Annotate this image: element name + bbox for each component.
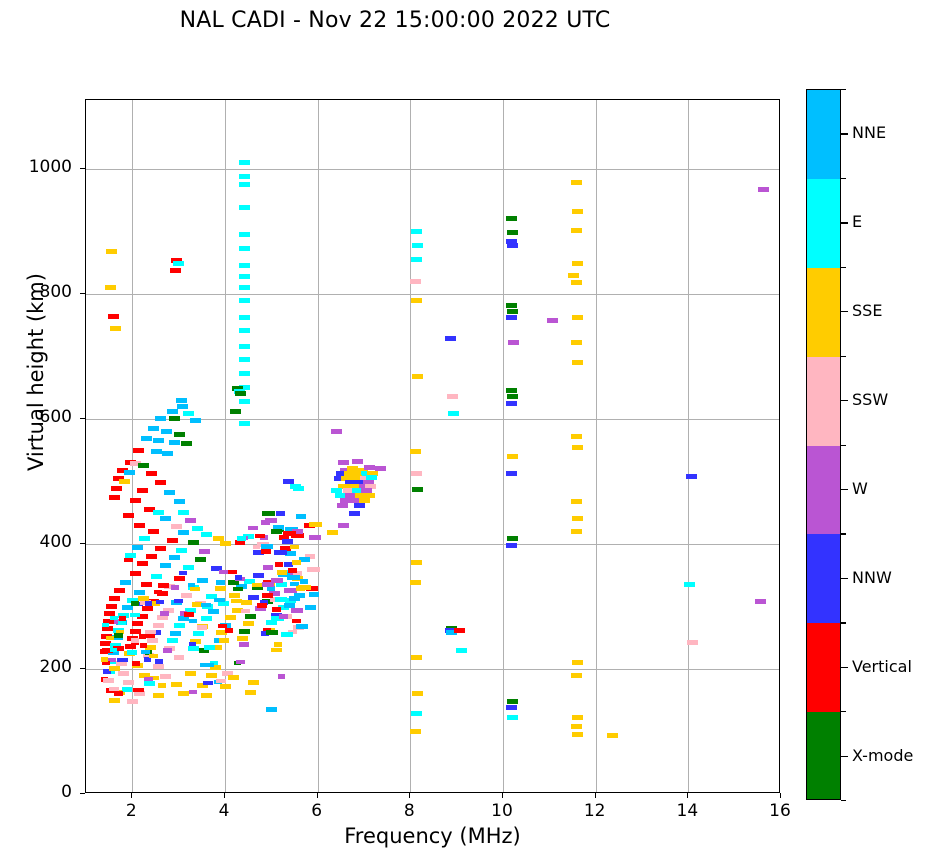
data-point <box>239 399 250 404</box>
data-point <box>153 623 164 628</box>
data-point <box>277 570 287 575</box>
data-point <box>123 513 134 518</box>
data-point <box>571 499 582 504</box>
data-point <box>204 645 215 650</box>
data-point <box>572 315 583 320</box>
colorbar-segment-ssw <box>807 357 840 446</box>
x-tick <box>131 793 132 798</box>
data-point <box>684 582 695 587</box>
data-point <box>307 567 320 572</box>
data-point <box>169 555 180 560</box>
data-point <box>266 630 278 635</box>
colorbar-divider-tick <box>841 800 846 801</box>
data-point <box>174 599 183 604</box>
data-point <box>507 699 518 704</box>
data-point <box>174 623 185 628</box>
data-point <box>239 629 250 634</box>
data-point <box>241 609 250 614</box>
data-point <box>123 680 134 685</box>
data-point <box>327 530 338 535</box>
data-point <box>239 174 250 179</box>
data-point <box>155 546 166 551</box>
data-point <box>262 582 274 587</box>
data-point <box>162 451 173 456</box>
data-point <box>185 671 196 676</box>
data-point <box>309 592 319 597</box>
data-point <box>149 654 158 659</box>
data-point <box>278 674 285 679</box>
data-point <box>137 488 148 493</box>
data-point <box>190 418 201 423</box>
y-tick <box>80 293 85 294</box>
data-point <box>173 261 184 266</box>
data-point <box>178 530 189 535</box>
data-point <box>131 601 139 606</box>
data-point <box>572 360 583 365</box>
data-point <box>412 691 423 696</box>
data-point <box>225 628 233 633</box>
colorbar-divider-tick <box>841 533 846 534</box>
data-point <box>228 570 237 575</box>
colorbar-tick <box>841 489 848 490</box>
data-point <box>151 574 162 579</box>
data-point <box>411 257 422 262</box>
data-point <box>228 675 239 680</box>
data-point <box>195 557 206 562</box>
data-point <box>141 582 152 587</box>
data-point <box>114 633 123 638</box>
data-point <box>239 357 250 362</box>
colorbar-segment-e <box>807 179 840 268</box>
data-point <box>189 619 197 624</box>
y-tick-label: 200 <box>0 657 72 677</box>
data-point <box>229 593 240 598</box>
data-point <box>411 229 422 234</box>
data-point <box>109 666 120 671</box>
data-point <box>160 611 169 616</box>
data-point <box>507 309 518 314</box>
data-point <box>106 604 117 609</box>
colorbar-label-x-mode: X-mode <box>852 746 913 765</box>
x-tick-label: 12 <box>565 801 625 821</box>
data-point <box>507 715 518 720</box>
data-point <box>239 274 250 279</box>
data-point <box>109 698 120 703</box>
x-tick-label: 8 <box>379 801 439 821</box>
data-point <box>571 724 582 729</box>
data-point <box>132 661 140 666</box>
data-point <box>181 593 192 598</box>
data-points-layer <box>86 100 779 792</box>
data-point <box>233 587 243 592</box>
x-tick-label: 2 <box>101 801 161 821</box>
colorbar-segment-nnw <box>807 534 840 623</box>
data-point <box>114 691 123 696</box>
data-point <box>571 180 582 185</box>
data-point <box>506 543 517 548</box>
x-tick <box>595 793 596 798</box>
data-point <box>235 575 242 580</box>
data-point <box>141 436 152 441</box>
data-point <box>271 648 282 653</box>
colorbar-segment-nne <box>807 90 840 179</box>
y-tick <box>80 543 85 544</box>
data-point <box>132 545 143 550</box>
data-point <box>148 426 159 431</box>
data-point <box>144 681 155 686</box>
data-point <box>255 534 265 539</box>
colorbar-divider-tick <box>841 711 846 712</box>
data-point <box>506 705 517 710</box>
data-point <box>607 733 618 738</box>
colorbar-tick <box>841 133 848 134</box>
x-tick <box>317 793 318 798</box>
data-point <box>262 511 275 516</box>
data-point <box>239 344 250 349</box>
data-point <box>130 571 141 576</box>
data-point <box>354 503 365 508</box>
data-point <box>293 486 304 491</box>
data-point <box>109 495 120 500</box>
y-tick <box>80 418 85 419</box>
data-point <box>122 605 133 610</box>
data-point <box>140 643 147 648</box>
x-tick <box>687 793 688 798</box>
data-point <box>102 626 113 631</box>
data-point <box>155 416 166 421</box>
data-point <box>236 660 245 665</box>
colorbar-label-sse: SSE <box>852 301 882 320</box>
data-point <box>506 216 517 221</box>
colorbar-tick <box>841 578 848 579</box>
data-point <box>266 707 277 712</box>
data-point <box>252 583 262 588</box>
colorbar-divider-tick <box>841 89 846 90</box>
data-point <box>292 560 301 565</box>
data-point <box>248 526 258 531</box>
data-point <box>275 597 287 602</box>
data-point <box>206 663 214 668</box>
data-point <box>154 590 162 595</box>
data-point <box>109 596 120 601</box>
data-point <box>119 479 130 484</box>
data-point <box>410 449 421 454</box>
data-point <box>170 268 181 273</box>
data-point <box>686 474 697 479</box>
colorbar-label-nnw: NNW <box>852 568 892 587</box>
data-point <box>201 532 212 537</box>
data-point <box>206 673 217 678</box>
data-point <box>114 588 125 593</box>
data-point <box>139 536 150 541</box>
data-point <box>507 243 518 248</box>
data-point <box>572 516 583 521</box>
x-tick <box>780 793 781 798</box>
data-point <box>239 315 250 320</box>
data-point <box>265 518 277 523</box>
colorbar-divider-tick <box>841 622 846 623</box>
colorbar-label-nne: NNE <box>852 123 886 142</box>
data-point <box>130 498 141 503</box>
data-point <box>572 715 583 720</box>
data-point <box>239 160 250 165</box>
data-point <box>193 631 204 636</box>
data-point <box>572 732 583 737</box>
data-point <box>167 638 178 643</box>
data-point <box>146 554 157 559</box>
data-point <box>188 540 199 545</box>
data-point <box>411 560 422 565</box>
y-tick <box>80 793 85 794</box>
data-point <box>137 561 148 566</box>
data-point <box>568 273 579 278</box>
data-point <box>153 664 164 669</box>
data-point <box>253 573 264 578</box>
data-point <box>122 687 132 692</box>
data-point <box>197 625 207 630</box>
data-point <box>155 659 163 664</box>
data-point <box>127 650 137 655</box>
data-point <box>283 531 296 536</box>
data-point <box>177 404 188 409</box>
data-point <box>220 684 231 689</box>
data-point <box>274 642 282 647</box>
data-point <box>337 503 348 508</box>
data-point <box>272 607 281 612</box>
data-point <box>219 570 228 575</box>
data-point <box>108 314 119 319</box>
data-point <box>239 642 249 647</box>
data-point <box>144 677 153 682</box>
data-point <box>171 585 179 590</box>
colorbar-divider-tick <box>841 445 846 446</box>
data-point <box>183 411 194 416</box>
data-point <box>118 621 126 626</box>
data-point <box>410 729 421 734</box>
data-point <box>305 605 316 610</box>
data-point <box>118 671 129 676</box>
x-tick <box>502 793 503 798</box>
data-point <box>239 182 250 187</box>
colorbar-label-ssw: SSW <box>852 390 888 409</box>
y-tick-label: 1000 <box>0 157 72 177</box>
data-point <box>103 678 114 683</box>
data-point <box>239 421 250 426</box>
data-point <box>105 285 116 290</box>
data-point <box>237 536 246 541</box>
colorbar-label-e: E <box>852 212 862 231</box>
data-point <box>445 336 456 341</box>
data-point <box>119 616 126 621</box>
data-point <box>239 371 250 376</box>
data-point <box>153 510 164 515</box>
x-tick-label: 14 <box>657 801 717 821</box>
data-point <box>176 398 187 403</box>
data-point <box>571 228 582 233</box>
data-point <box>296 586 305 591</box>
data-point <box>412 374 423 379</box>
data-point <box>271 578 283 583</box>
data-point <box>245 614 256 619</box>
data-point <box>506 388 517 393</box>
data-point <box>506 315 517 320</box>
data-point <box>239 328 250 333</box>
data-point <box>160 516 171 521</box>
data-point <box>181 441 192 446</box>
data-point <box>275 562 283 567</box>
data-point <box>131 638 139 643</box>
data-point <box>160 563 171 568</box>
data-point <box>145 630 156 635</box>
data-point <box>231 599 242 604</box>
y-tick-label: 400 <box>0 532 72 552</box>
data-point <box>201 693 212 698</box>
data-point <box>412 487 423 492</box>
data-point <box>153 693 164 698</box>
colorbar-divider-tick <box>841 267 846 268</box>
data-point <box>410 580 421 585</box>
data-point <box>208 609 219 614</box>
data-point <box>171 524 182 529</box>
colorbar-segment-w <box>807 446 840 535</box>
data-point <box>124 470 135 475</box>
colorbar-tick <box>841 667 848 668</box>
data-point <box>507 230 518 235</box>
colorbar-tick <box>841 311 848 312</box>
data-point <box>188 646 199 651</box>
data-point <box>199 549 210 554</box>
data-point <box>174 432 185 437</box>
data-point <box>216 580 225 585</box>
data-point <box>134 590 145 595</box>
data-point <box>174 499 185 504</box>
data-point <box>448 411 459 416</box>
data-point <box>237 636 248 641</box>
y-axis-label: Virtual height (km) <box>24 212 48 532</box>
data-point <box>161 429 172 434</box>
data-point <box>133 448 144 453</box>
data-point <box>261 549 271 554</box>
data-point <box>158 683 166 688</box>
colorbar-tick <box>841 400 848 401</box>
data-point <box>349 511 360 516</box>
data-point <box>220 541 231 546</box>
data-point <box>571 434 582 439</box>
data-point <box>225 615 236 620</box>
data-point <box>147 638 158 643</box>
colorbar-divider-tick <box>841 356 846 357</box>
data-point <box>117 658 128 663</box>
data-point <box>146 471 157 476</box>
data-point <box>127 699 138 704</box>
data-point <box>276 511 285 516</box>
data-point <box>284 603 295 608</box>
data-point <box>178 510 189 515</box>
data-point <box>507 394 518 399</box>
data-point <box>281 632 293 637</box>
data-point <box>331 429 342 434</box>
data-point <box>192 526 203 531</box>
data-point <box>282 539 293 544</box>
data-point <box>216 679 226 684</box>
data-point <box>235 540 245 545</box>
data-point <box>171 682 182 687</box>
data-point <box>263 565 273 570</box>
data-point <box>279 614 288 619</box>
colorbar-divider-tick <box>841 178 846 179</box>
data-point <box>454 628 465 633</box>
data-point <box>411 655 422 660</box>
data-point <box>241 600 252 605</box>
data-point <box>179 571 187 576</box>
x-axis-label: Frequency (MHz) <box>85 824 780 848</box>
data-point <box>184 612 194 617</box>
data-point <box>274 550 287 555</box>
data-point <box>239 205 250 210</box>
data-point <box>120 580 131 585</box>
data-point <box>411 471 422 476</box>
data-point <box>296 514 306 519</box>
data-point <box>571 673 582 678</box>
data-point <box>261 544 273 549</box>
data-point <box>506 471 517 476</box>
data-point <box>134 691 145 696</box>
data-point <box>257 603 267 608</box>
data-point <box>203 681 213 686</box>
data-point <box>571 340 582 345</box>
colorbar-label-vertical: Vertical <box>852 657 912 676</box>
data-point <box>447 394 458 399</box>
data-point <box>110 326 121 331</box>
data-point <box>183 565 194 570</box>
data-point <box>133 688 144 693</box>
x-tick-label: 16 <box>750 801 810 821</box>
data-point <box>507 454 518 459</box>
data-point <box>201 603 211 608</box>
data-point <box>201 616 212 621</box>
data-point <box>572 261 583 266</box>
data-point <box>292 619 301 624</box>
data-point <box>411 711 422 716</box>
data-point <box>111 486 122 491</box>
data-point <box>169 440 180 445</box>
data-point <box>190 587 200 592</box>
y-tick <box>80 668 85 669</box>
data-point <box>271 529 282 534</box>
data-point <box>248 680 259 685</box>
data-point <box>300 579 308 584</box>
data-point <box>687 640 698 645</box>
data-point <box>160 674 171 679</box>
data-point <box>132 621 143 626</box>
data-point <box>138 463 149 468</box>
data-point <box>214 598 225 603</box>
data-point <box>142 606 153 611</box>
colorbar-label-w: W <box>852 479 868 498</box>
data-point <box>755 599 766 604</box>
data-point <box>571 529 582 534</box>
data-point <box>153 438 164 443</box>
data-point <box>572 660 583 665</box>
data-point <box>230 409 241 414</box>
data-point <box>138 596 149 601</box>
colorbar-tick <box>841 222 848 223</box>
data-point <box>170 631 181 636</box>
data-point <box>235 391 246 396</box>
data-point <box>364 465 375 470</box>
data-point <box>506 401 517 406</box>
chart-title: NAL CADI - Nov 22 15:00:00 2022 UTC <box>0 8 790 33</box>
